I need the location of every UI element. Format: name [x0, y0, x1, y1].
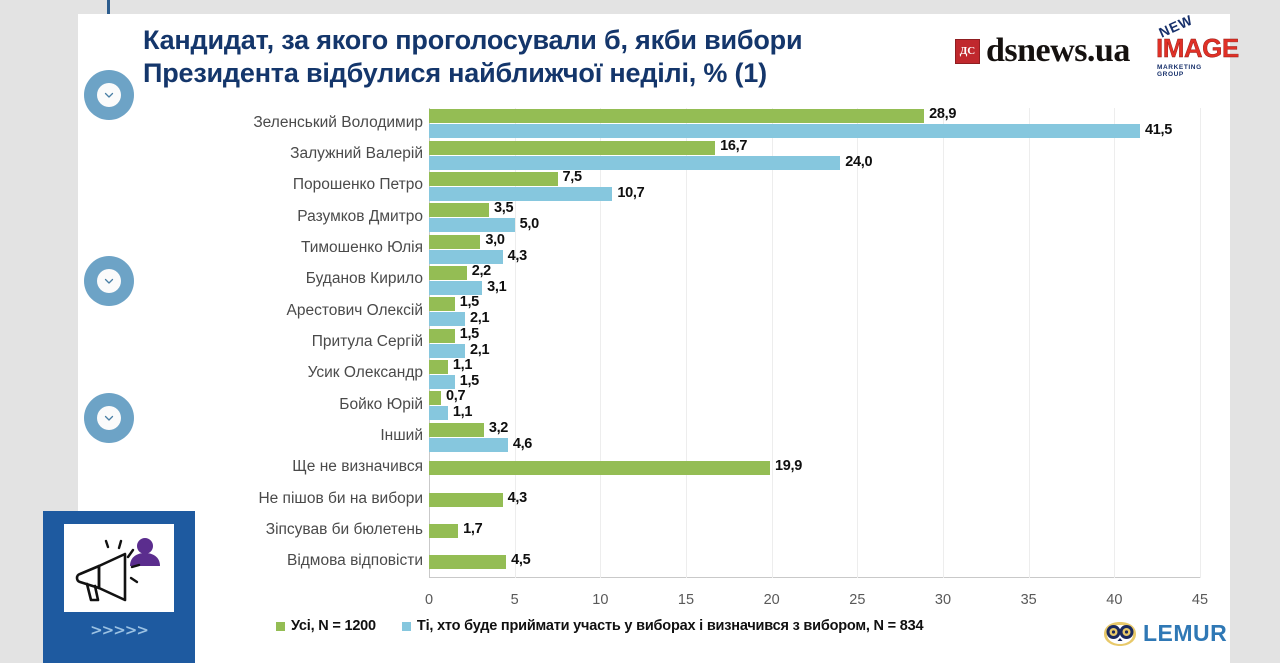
value-axis-tick-label: 35: [1021, 592, 1037, 608]
timeline-dot-1[interactable]: [84, 70, 134, 120]
bar-series-all: [429, 493, 503, 507]
bar-value-label: 4,5: [511, 552, 530, 568]
bar-series-all: [429, 109, 924, 123]
grid-line: [857, 108, 858, 578]
bar-value-label: 1,5: [460, 373, 479, 389]
bar-value-label: 2,1: [470, 310, 489, 326]
bar-value-label: 1,1: [453, 404, 472, 420]
bar-value-label: 16,7: [720, 138, 747, 154]
bar-value-label: 24,0: [845, 154, 872, 170]
new-image-logo-main: IMAGE: [1156, 33, 1239, 64]
bar-series-all: [429, 423, 484, 437]
value-axis-tick-label: 0: [425, 592, 433, 608]
promo-illustration: [64, 524, 174, 612]
dsnews-logo[interactable]: ДС dsnews.ua: [955, 32, 1130, 70]
bar-series-all: [429, 141, 715, 155]
legend-swatch-icon: [402, 622, 411, 631]
value-axis-tick-label: 5: [511, 592, 519, 608]
category-label: Зеленський Володимир: [199, 114, 423, 132]
category-label: Порошенко Петро: [199, 176, 423, 194]
chevron-down-icon: [97, 406, 121, 430]
bar-value-label: 1,5: [460, 326, 479, 342]
legend-label: Усі, N = 1200: [291, 618, 376, 634]
chevron-down-icon: [97, 83, 121, 107]
bar-series-voters: [429, 156, 840, 170]
lemur-face-icon: [1102, 621, 1138, 647]
grid-line: [600, 108, 601, 578]
value-axis-ticks: 051015202530354045: [429, 592, 1200, 612]
bar-series-all: [429, 266, 467, 280]
category-label: Тимошенко Юлія: [199, 239, 423, 257]
bar-series-voters: [429, 218, 515, 232]
bar-value-label: 4,3: [508, 248, 527, 264]
value-axis-tick-label: 45: [1192, 592, 1208, 608]
bar-series-voters: [429, 375, 455, 389]
category-label: Разумков Дмитро: [199, 208, 423, 226]
legend-item[interactable]: Ті, хто буде приймати участь у виборах і…: [402, 618, 923, 634]
grid-line: [1200, 108, 1201, 578]
bar-value-label: 28,9: [929, 106, 956, 122]
bar-value-label: 4,6: [513, 436, 532, 452]
bar-value-label: 3,2: [489, 420, 508, 436]
bar-value-label: 4,3: [508, 490, 527, 506]
bar-value-label: 3,5: [494, 200, 513, 216]
bar-series-voters: [429, 187, 612, 201]
plot-area: 28,941,516,724,07,510,73,55,03,04,32,23,…: [429, 108, 1200, 578]
lemur-wordmark: LEMUR: [1143, 620, 1227, 647]
bar-series-voters: [429, 438, 508, 452]
slide-canvas: >>>>> Кандидат, за якого проголосували б…: [0, 0, 1280, 663]
category-label: Не пішов би на вибори: [199, 490, 423, 508]
category-label: Відмова відповісти: [199, 552, 423, 570]
category-label: Притула Сергій: [199, 333, 423, 351]
category-label: Усик Олександр: [199, 364, 423, 382]
category-label: Зіпсував би бюлетень: [199, 521, 423, 539]
bar-series-voters: [429, 344, 465, 358]
bar-series-all: [429, 329, 455, 343]
value-axis-tick-label: 15: [678, 592, 694, 608]
timeline-dot-2[interactable]: [84, 256, 134, 306]
bar-value-label: 1,1: [453, 357, 472, 373]
legend-label: Ті, хто буде приймати участь у виборах і…: [417, 618, 923, 634]
category-axis: Зеленський ВолодимирЗалужний ВалерійПоро…: [200, 108, 429, 578]
bar-value-label: 41,5: [1145, 122, 1172, 138]
bar-series-voters: [429, 250, 503, 264]
page-title: Кандидат, за якого проголосували б, якби…: [143, 24, 953, 90]
bar-value-label: 1,7: [463, 521, 482, 537]
grid-line: [772, 108, 773, 578]
bar-series-all: [429, 461, 770, 475]
bar-series-all: [429, 172, 558, 186]
bar-value-label: 0,7: [446, 388, 465, 404]
bar-series-all: [429, 555, 506, 569]
category-label: Арестович Олексій: [199, 302, 423, 320]
category-label: Залужний Валерій: [199, 145, 423, 163]
bar-value-label: 3,1: [487, 279, 506, 295]
category-label: Бойко Юрій: [199, 396, 423, 414]
grid-line: [1114, 108, 1115, 578]
bar-value-label: 5,0: [520, 216, 539, 232]
category-label: Ще не визначився: [199, 458, 423, 476]
chart-legend: Усі, N = 1200Ті, хто буде приймати участ…: [276, 618, 923, 634]
legend-item[interactable]: Усі, N = 1200: [276, 618, 376, 634]
bar-value-label: 3,0: [485, 232, 504, 248]
grid-line: [1029, 108, 1030, 578]
bar-series-all: [429, 297, 455, 311]
bar-value-label: 2,1: [470, 342, 489, 358]
bar-series-voters: [429, 406, 448, 420]
value-axis-tick-label: 20: [764, 592, 780, 608]
promo-chevrons: >>>>>: [90, 621, 148, 639]
bar-series-all: [429, 360, 448, 374]
timeline-dot-3[interactable]: [84, 393, 134, 443]
grid-line: [686, 108, 687, 578]
bar-series-all: [429, 203, 489, 217]
bar-series-voters: [429, 281, 482, 295]
dsnews-wordmark: dsnews.ua: [986, 32, 1130, 70]
category-label: Буданов Кирило: [199, 270, 423, 288]
bar-value-label: 7,5: [563, 169, 582, 185]
bar-value-label: 2,2: [472, 263, 491, 279]
bar-series-all: [429, 391, 441, 405]
bar-series-all: [429, 524, 458, 538]
lemur-logo[interactable]: LEMUR: [1102, 620, 1227, 647]
dsnews-mark-icon: ДС: [955, 39, 980, 64]
axis-baseline: [429, 577, 1200, 578]
new-image-logo-sub: MARKETING GROUP: [1157, 64, 1230, 78]
value-axis-tick-label: 40: [1106, 592, 1122, 608]
value-axis-tick-label: 25: [849, 592, 865, 608]
bar-series-voters: [429, 312, 465, 326]
promo-card[interactable]: >>>>>: [43, 511, 195, 663]
bar-chart: Зеленський ВолодимирЗалужний ВалерійПоро…: [200, 108, 1200, 578]
value-axis-tick-label: 30: [935, 592, 951, 608]
bar-series-voters: [429, 124, 1140, 138]
new-image-logo[interactable]: NEW IMAGE MARKETING GROUP: [1152, 18, 1230, 80]
category-label: Інший: [199, 427, 423, 445]
bar-series-all: [429, 235, 480, 249]
bar-value-label: 19,9: [775, 458, 802, 474]
value-axis-tick-label: 10: [592, 592, 608, 608]
legend-swatch-icon: [276, 622, 285, 631]
bar-value-label: 10,7: [617, 185, 644, 201]
megaphone-icon: [64, 524, 174, 612]
grid-line: [943, 108, 944, 578]
bar-value-label: 1,5: [460, 294, 479, 310]
chevron-down-icon: [97, 269, 121, 293]
